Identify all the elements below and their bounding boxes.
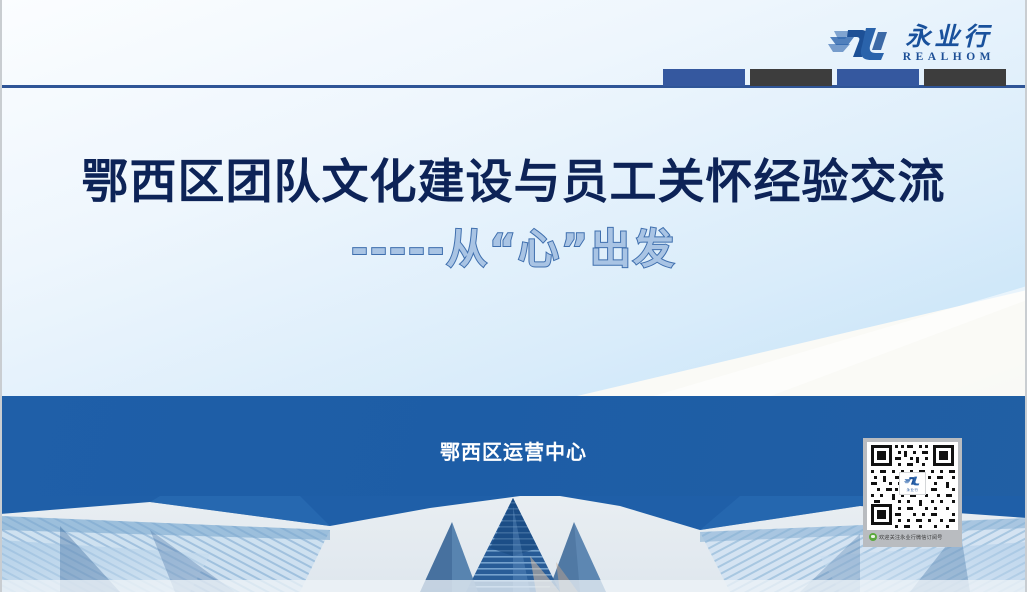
header-block-3 (837, 69, 919, 86)
slide-main-title: 鄂西区团队文化建设与员工关怀经验交流 (0, 143, 1027, 212)
qr-caption: 欢迎关注永业行微信订阅号 (867, 531, 958, 543)
qr-yh-monogram-icon (904, 476, 921, 486)
slide-subtitle: -----从“心”出发 (0, 215, 1027, 275)
header-block-decoration (663, 69, 1027, 86)
qr-center-logo: 永业行 (899, 472, 926, 495)
logo-wordmark: 永业行 REALHOM (899, 24, 995, 64)
company-logo: 永业行 REALHOM (828, 22, 995, 66)
title-slide: 永业行 REALHOM 鄂西区团队文化建设与员工关怀经验交流 -----从“心”… (0, 0, 1027, 592)
wechat-icon (869, 533, 877, 541)
logo-company-en: REALHOM (899, 52, 995, 64)
header-block-1 (663, 69, 745, 86)
logo-company-cn: 永业行 (901, 24, 992, 49)
qr-caption-text: 欢迎关注永业行微信订阅号 (879, 534, 942, 541)
header-block-4 (924, 69, 1006, 86)
wechat-qr-card[interactable]: 永业行 欢迎关注永业行微信订阅号 (863, 438, 962, 547)
header-block-2 (750, 69, 832, 86)
yh-monogram-icon (828, 26, 890, 62)
slide-header: 永业行 REALHOM (0, 0, 1027, 90)
qr-center-company-cn: 永业行 (907, 487, 919, 492)
